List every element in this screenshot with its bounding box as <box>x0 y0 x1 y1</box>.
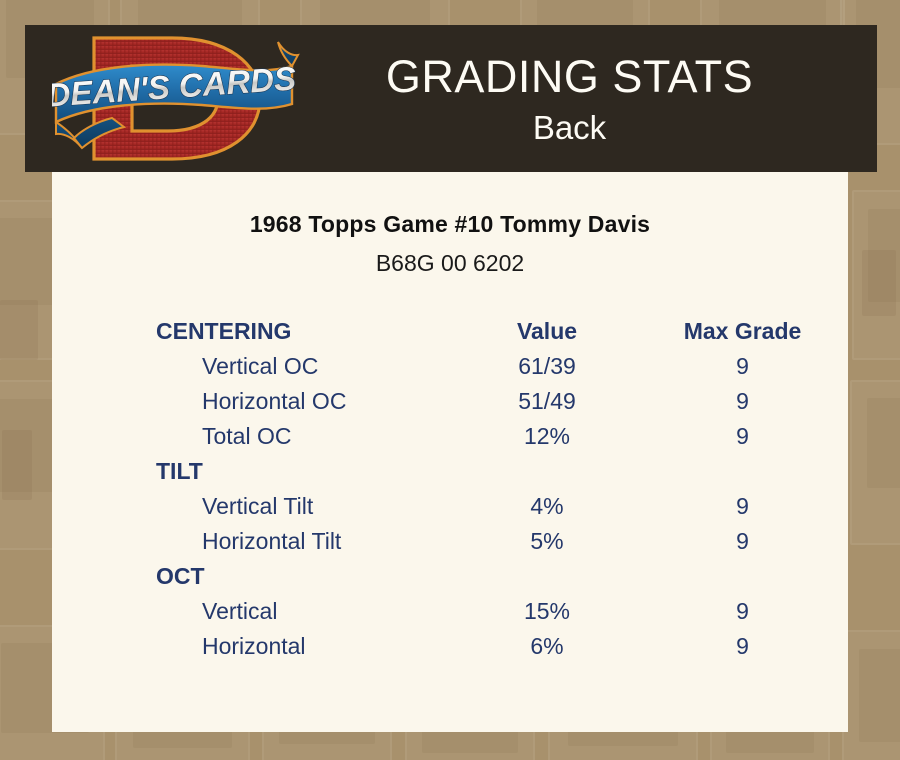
table-row: Vertical OC61/399 <box>52 349 848 384</box>
page-title: GRADING STATS <box>302 54 837 99</box>
stat-max-grade: 9 <box>637 419 848 454</box>
stat-value: 61/39 <box>457 349 637 384</box>
stat-label: Total OC <box>52 419 457 454</box>
stat-max-grade: 9 <box>637 489 848 524</box>
header-title-block: GRADING STATS Back <box>302 54 837 144</box>
backdrop-watermark <box>2 430 32 500</box>
column-header-value: Value <box>457 314 637 349</box>
deans-cards-logo[interactable]: DEAN'S CARDS <box>52 26 302 171</box>
table-row: Horizontal6%9 <box>52 629 848 664</box>
table-row: Vertical Tilt4%9 <box>52 489 848 524</box>
stat-value: 12% <box>457 419 637 454</box>
table-row: CENTERINGValueMax Grade <box>52 314 848 349</box>
stat-label: Vertical <box>52 594 457 629</box>
table-row: OCT <box>52 559 848 594</box>
page-subtitle: Back <box>302 111 837 144</box>
stat-max-grade <box>637 454 848 489</box>
grading-stats-table: CENTERINGValueMax GradeVertical OC61/399… <box>52 314 848 664</box>
stat-max-grade <box>637 559 848 594</box>
stat-max-grade: 9 <box>637 349 848 384</box>
backdrop-watermark <box>0 300 38 360</box>
stat-label: Vertical Tilt <box>52 489 457 524</box>
card-code: B68G 00 6202 <box>52 250 848 277</box>
stat-value: 51/49 <box>457 384 637 419</box>
content-panel: 1968 Topps Game #10 Tommy Davis B68G 00 … <box>52 172 848 732</box>
table-row: Horizontal OC51/499 <box>52 384 848 419</box>
stat-label: Vertical OC <box>52 349 457 384</box>
section-label: TILT <box>52 454 457 489</box>
column-header-max-grade: Max Grade <box>637 314 848 349</box>
stat-value: 5% <box>457 524 637 559</box>
stat-value <box>457 559 637 594</box>
page-header: DEAN'S CARDS GRADING STATS Back <box>25 25 877 172</box>
backdrop-watermark <box>850 380 900 545</box>
stat-label: Horizontal <box>52 629 457 664</box>
stat-value <box>457 454 637 489</box>
stat-max-grade: 9 <box>637 594 848 629</box>
deans-cards-logo-icon: DEAN'S CARDS <box>52 26 302 171</box>
stat-max-grade: 9 <box>637 384 848 419</box>
stat-label: Horizontal Tilt <box>52 524 457 559</box>
table-row: TILT <box>52 454 848 489</box>
backdrop-watermark <box>842 630 900 760</box>
table-row: Total OC12%9 <box>52 419 848 454</box>
stat-max-grade: 9 <box>637 629 848 664</box>
stat-label: Horizontal OC <box>52 384 457 419</box>
stat-max-grade: 9 <box>637 524 848 559</box>
backdrop-watermark <box>862 250 896 316</box>
stat-value: 6% <box>457 629 637 664</box>
section-label: CENTERING <box>52 314 457 349</box>
stat-value: 15% <box>457 594 637 629</box>
section-label: OCT <box>52 559 457 594</box>
stat-value: 4% <box>457 489 637 524</box>
card-title: 1968 Topps Game #10 Tommy Davis <box>52 211 848 238</box>
table-row: Vertical15%9 <box>52 594 848 629</box>
table-row: Horizontal Tilt5%9 <box>52 524 848 559</box>
